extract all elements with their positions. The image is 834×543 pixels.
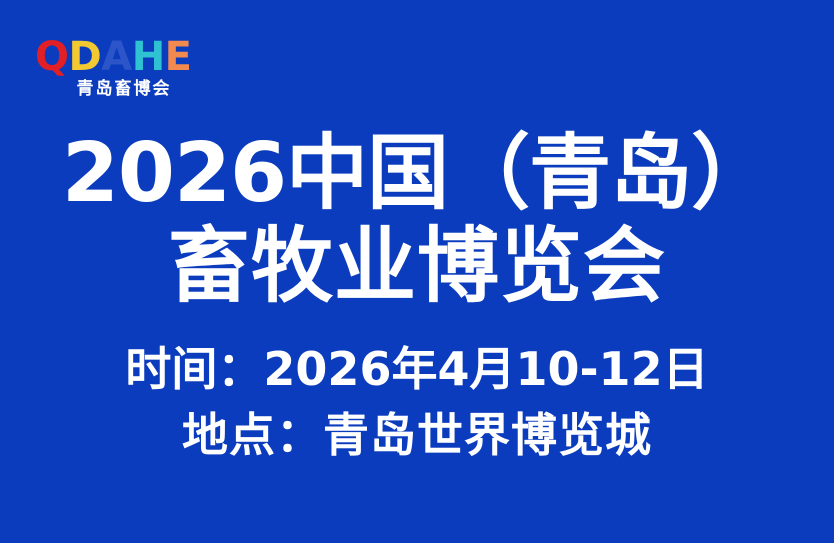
event-date: 时间：2026年4月10-12日 — [0, 336, 834, 402]
title-line-secondary: 畜牧业博览会 — [0, 220, 834, 314]
poster-info: 时间：2026年4月10-12日 地点：青岛世界博览城 — [0, 336, 834, 468]
logo-letter-a: A — [101, 36, 131, 78]
title-line-primary: 2026中国（青岛） — [0, 128, 834, 220]
logo-subtitle: 青岛畜博会 — [31, 79, 211, 99]
logo-letter-h: H — [132, 36, 165, 78]
logo-letter-e: E — [165, 36, 192, 78]
event-venue: 地点：青岛世界博览城 — [0, 402, 834, 468]
brand-logo[interactable]: QDAHE 青岛畜博会 — [31, 36, 211, 108]
poster-title: 2026中国（青岛） 畜牧业博览会 — [0, 128, 834, 314]
event-poster: QDAHE 青岛畜博会 2026中国（青岛） 畜牧业博览会 时间：2026年4月… — [0, 0, 834, 543]
logo-letter-q: Q — [35, 36, 69, 78]
logo-wordmark: QDAHE — [31, 36, 211, 78]
logo-letter-d: D — [69, 36, 102, 78]
